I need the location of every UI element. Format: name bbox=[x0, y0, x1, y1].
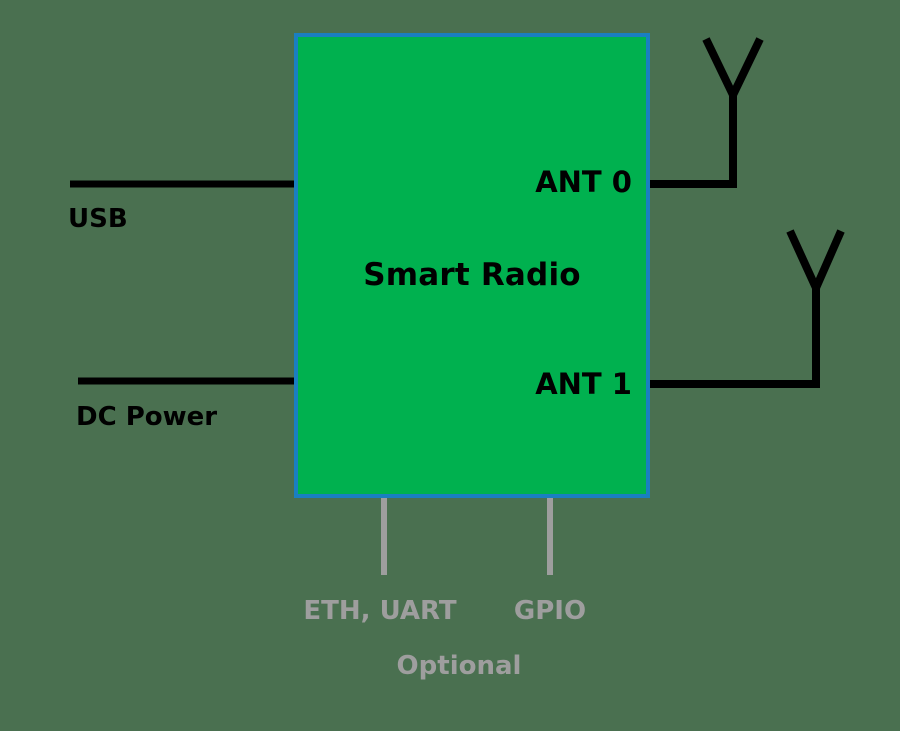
diagram-canvas: Smart Radio ANT 0 ANT 1 USB DC Power ETH… bbox=[0, 0, 900, 731]
smart-radio-module-label: Smart Radio bbox=[0, 260, 900, 291]
gpio-port-label: GPIO bbox=[0, 598, 900, 624]
optional-interfaces-caption: Optional bbox=[0, 653, 900, 679]
antenna-0-dipole-icon bbox=[706, 39, 760, 95]
antenna-1-port-label: ANT 1 bbox=[0, 370, 632, 399]
antenna-0-port-label: ANT 0 bbox=[0, 168, 632, 197]
antenna-1-feed-wire bbox=[650, 288, 816, 384]
usb-port-label: USB bbox=[68, 206, 128, 232]
dc-power-port-label: DC Power bbox=[76, 404, 217, 430]
antenna-0-feed-wire bbox=[650, 95, 733, 184]
